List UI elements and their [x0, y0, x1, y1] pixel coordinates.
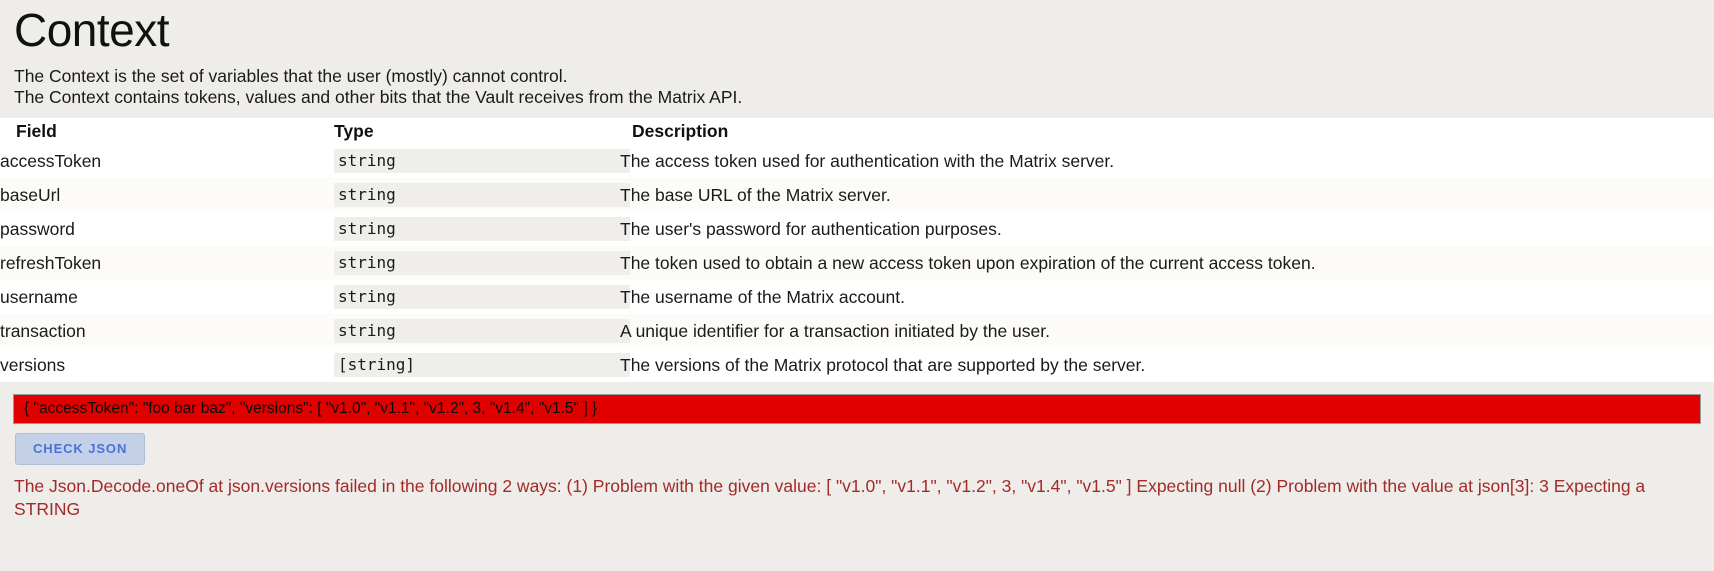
type-code: [string] [334, 353, 630, 377]
fields-table: Field Type Description accessToken strin… [0, 118, 1714, 382]
cell-type: string [310, 246, 620, 280]
json-input[interactable] [13, 394, 1701, 424]
cell-description: The versions of the Matrix protocol that… [620, 348, 1714, 382]
table-row: versions [string] The versions of the Ma… [0, 348, 1714, 382]
cell-description: The base URL of the Matrix server. [620, 178, 1714, 212]
table-row: refreshToken string The token used to ob… [0, 246, 1714, 280]
table-row: username string The username of the Matr… [0, 280, 1714, 314]
cell-type: string [310, 280, 620, 314]
table-row: transaction string A unique identifier f… [0, 314, 1714, 348]
type-code: string [334, 285, 630, 309]
table-body: accessToken string The access token used… [0, 144, 1714, 382]
type-code: string [334, 217, 630, 241]
cell-field: username [0, 280, 310, 314]
cell-field: baseUrl [0, 178, 310, 212]
type-code: string [334, 319, 630, 343]
cell-description: The access token used for authentication… [620, 144, 1714, 178]
cell-type: string [310, 314, 620, 348]
cell-field: accessToken [0, 144, 310, 178]
cell-field: versions [0, 348, 310, 382]
cell-type: string [310, 144, 620, 178]
button-row: CHECK JSON [15, 433, 1714, 465]
type-code: string [334, 149, 630, 173]
fields-table-container: Field Type Description accessToken strin… [0, 118, 1714, 382]
intro-paragraph: The Context is the set of variables that… [14, 66, 1714, 107]
intro-line-1: The Context is the set of variables that… [14, 66, 1714, 87]
cell-field: refreshToken [0, 246, 310, 280]
json-error-message: The Json.Decode.oneOf at json.versions f… [14, 475, 1700, 522]
cell-description: A unique identifier for a transaction in… [620, 314, 1714, 348]
table-row: password string The user's password for … [0, 212, 1714, 246]
cell-type: string [310, 212, 620, 246]
table-row: baseUrl string The base URL of the Matri… [0, 178, 1714, 212]
intro-line-2: The Context contains tokens, values and … [14, 87, 1714, 108]
table-header-row: Field Type Description [0, 118, 1714, 144]
check-json-button[interactable]: CHECK JSON [15, 433, 145, 465]
type-code: string [334, 183, 630, 207]
cell-description: The username of the Matrix account. [620, 280, 1714, 314]
cell-type: string [310, 178, 620, 212]
type-code: string [334, 251, 630, 275]
page-title: Context [14, 6, 1714, 54]
cell-description: The user's password for authentication p… [620, 212, 1714, 246]
table-header: Field Type Description [0, 118, 1714, 144]
page-root: Context The Context is the set of variab… [0, 0, 1714, 521]
cell-field: password [0, 212, 310, 246]
json-input-row [13, 394, 1701, 424]
column-header-field: Field [0, 118, 310, 144]
cell-field: transaction [0, 314, 310, 348]
table-row: accessToken string The access token used… [0, 144, 1714, 178]
cell-description: The token used to obtain a new access to… [620, 246, 1714, 280]
column-header-description: Description [620, 118, 1714, 144]
column-header-type: Type [310, 118, 620, 144]
cell-type: [string] [310, 348, 620, 382]
